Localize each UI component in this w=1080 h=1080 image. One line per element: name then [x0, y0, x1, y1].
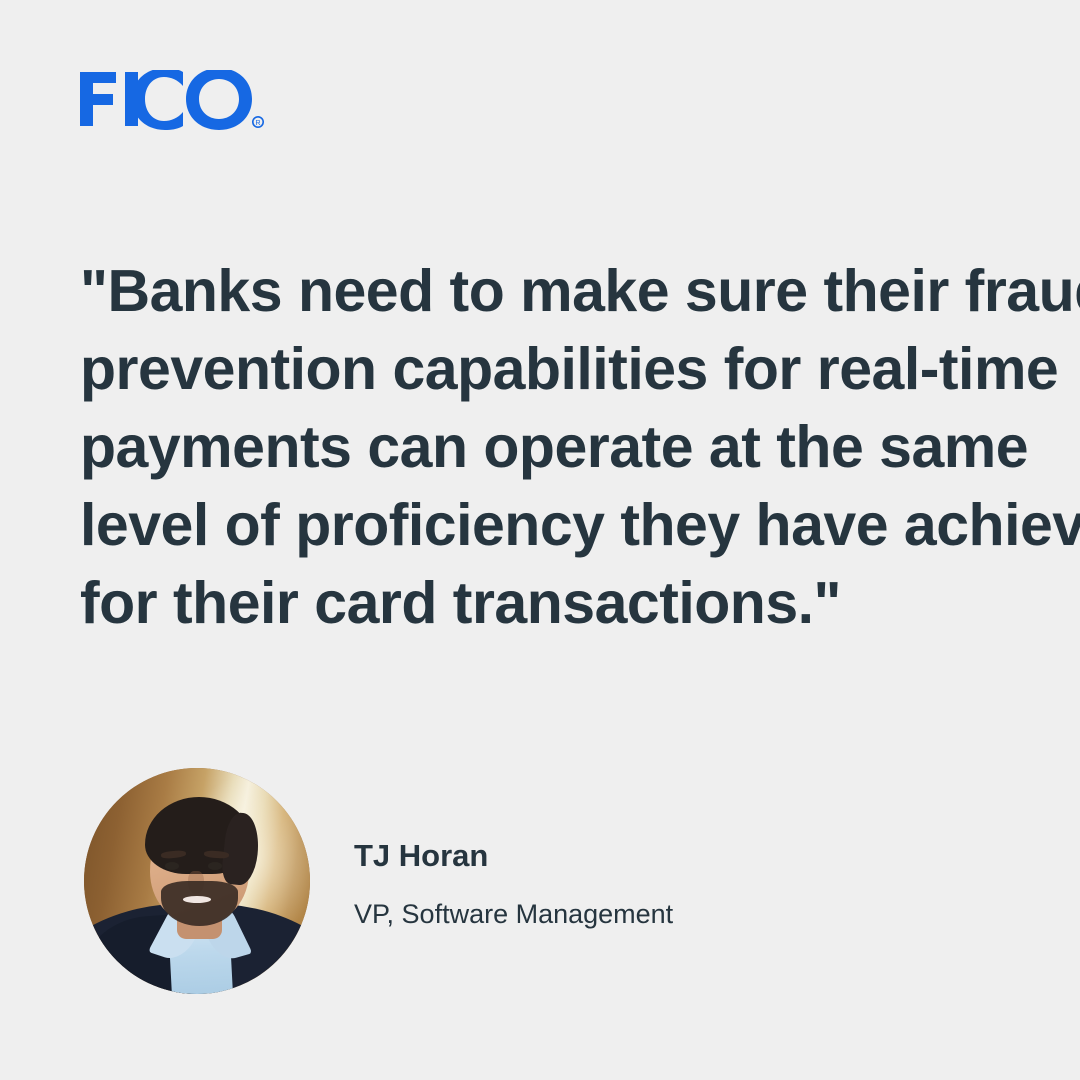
avatar-mouth — [183, 896, 210, 903]
avatar — [84, 768, 310, 994]
quote-text: "Banks need to make sure their fraud pre… — [80, 252, 1000, 642]
attribution-title: VP, Software Management — [354, 898, 673, 930]
registered-trademark-icon: R — [253, 117, 263, 127]
svg-text:R: R — [255, 120, 260, 127]
quote-line-1: "Banks need to make sure their fraud — [80, 252, 1000, 330]
fico-logo-icon: R — [80, 70, 280, 130]
attribution-block: TJ Horan VP, Software Management — [84, 758, 984, 1003]
attribution-name: TJ Horan — [354, 837, 673, 874]
quote-line-5: for their card transactions." — [80, 564, 1000, 642]
quote-line-4: level of proficiency they have achieved — [80, 486, 1000, 564]
quote-line-3: payments can operate at the same — [80, 408, 1000, 486]
quote-line-2: prevention capabilities for real-time — [80, 330, 1000, 408]
attribution-text: TJ Horan VP, Software Management — [354, 831, 673, 931]
fico-logo[interactable]: R — [80, 70, 280, 130]
quote-card: R "Banks need to make sure their fraud p… — [0, 0, 1080, 1080]
